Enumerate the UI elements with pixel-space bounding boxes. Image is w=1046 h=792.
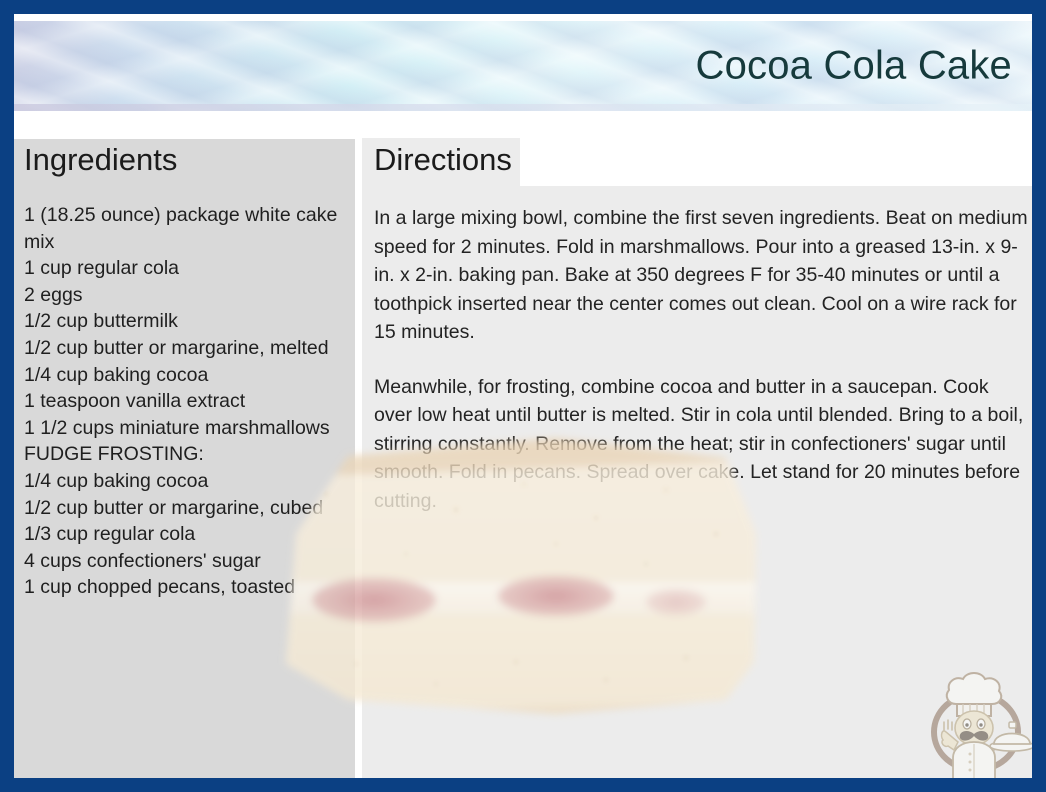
ingredient-item: 1/2 cup butter or margarine, melted	[24, 335, 342, 362]
page-title: Cocoa Cola Cake	[696, 44, 1013, 89]
directions-heading: Directions	[374, 142, 512, 178]
ingredient-item: 1 teaspoon vanilla extract	[24, 388, 342, 415]
title-banner: Cocoa Cola Cake	[14, 21, 1032, 111]
ingredient-item: 1/4 cup baking cocoa	[24, 468, 342, 495]
direction-paragraph: In a large mixing bowl, combine the firs…	[374, 204, 1029, 347]
ingredient-item: 1/4 cup baking cocoa	[24, 362, 342, 389]
ingredient-item: FUDGE FROSTING:	[24, 441, 342, 468]
ingredient-item: 1 1/2 cups miniature marshmallows	[24, 415, 342, 442]
direction-paragraph: Meanwhile, for frosting, combine cocoa a…	[374, 373, 1029, 516]
ingredient-item: 1 cup regular cola	[24, 255, 342, 282]
ingredients-list: 1 (18.25 ounce) package white cake mix1 …	[24, 202, 342, 601]
directions-body: In a large mixing bowl, combine the firs…	[374, 204, 1029, 541]
ingredients-heading: Ingredients	[24, 142, 177, 178]
ingredient-item: 1/2 cup butter or margarine, cubed	[24, 495, 342, 522]
ingredient-item: 1 cup chopped pecans, toasted	[24, 574, 342, 601]
ingredient-item: 4 cups confectioners' sugar	[24, 548, 342, 575]
ingredient-item: 1 (18.25 ounce) package white cake mix	[24, 202, 342, 255]
ingredient-item: 1/2 cup buttermilk	[24, 308, 342, 335]
ingredient-item: 1/3 cup regular cola	[24, 521, 342, 548]
ingredient-item: 2 eggs	[24, 282, 342, 309]
recipe-card: Cocoa Cola Cake Ingredients 1 (18.25 oun…	[0, 0, 1046, 792]
